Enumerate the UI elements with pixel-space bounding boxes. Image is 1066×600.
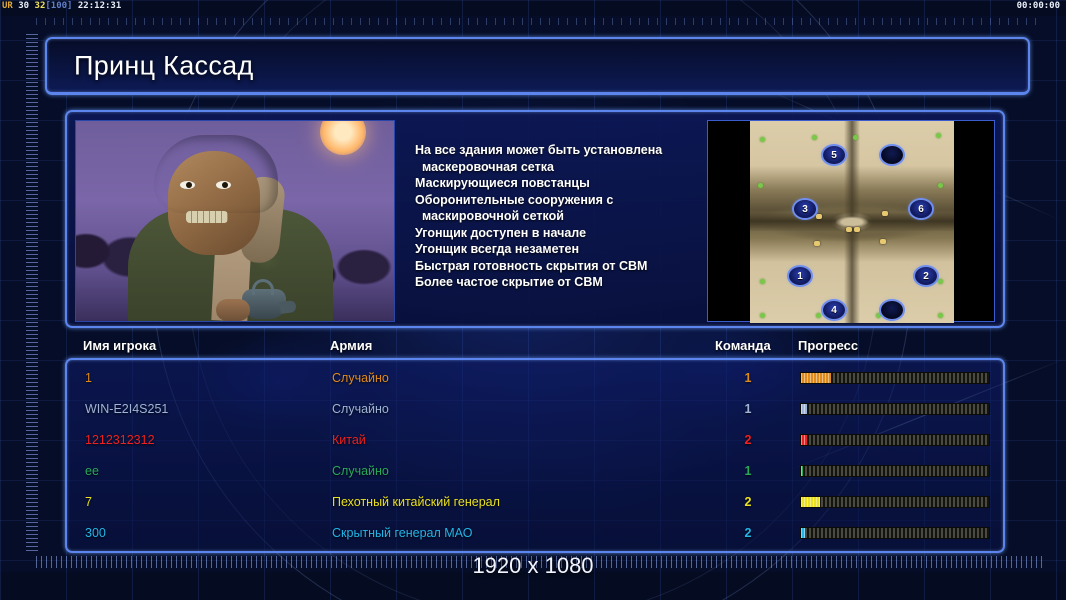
progress-fill — [801, 497, 820, 507]
description-line: Более частое скрытие от СВМ — [415, 274, 693, 291]
map-resource-marker — [760, 313, 765, 318]
debug-prefix: UR — [2, 1, 13, 11]
map-start-position[interactable] — [881, 301, 903, 319]
description-line: маскеровочная сетка — [415, 159, 693, 176]
player-rows-container: 1Случайно1WIN-E2I4S251Случайно1121231231… — [67, 366, 1003, 545]
map-start-position[interactable]: 6 — [910, 200, 932, 218]
map-start-position[interactable]: 2 — [915, 267, 937, 285]
player-name[interactable]: 1 — [85, 371, 92, 385]
map-resource-marker — [876, 313, 881, 318]
table-row[interactable]: 1212312312Китай2 — [67, 428, 1003, 452]
soldier-teeth — [186, 211, 228, 223]
soldier-turban — [154, 135, 278, 213]
player-army[interactable]: Китай — [332, 433, 366, 447]
map-oil-marker — [882, 211, 888, 216]
map-resource-marker — [760, 279, 765, 284]
debug-bracket: [100] — [45, 1, 72, 11]
map-resource-marker — [816, 313, 821, 318]
progress-fill — [801, 373, 831, 383]
player-team[interactable]: 2 — [737, 495, 759, 509]
player-team[interactable]: 2 — [737, 526, 759, 540]
player-team[interactable]: 2 — [737, 433, 759, 447]
map-resource-marker — [853, 135, 858, 140]
map-start-position[interactable]: 3 — [794, 200, 816, 218]
player-name[interactable]: ee — [85, 464, 99, 478]
player-army[interactable]: Пехотный китайский генерал — [332, 495, 500, 509]
player-army[interactable]: Случайно — [332, 402, 389, 416]
player-progress-bar — [800, 496, 990, 508]
progress-fill — [801, 404, 807, 414]
map-resource-marker — [936, 133, 941, 138]
column-header-team: Команда — [715, 338, 771, 353]
debug-clock: 22:12:31 — [78, 1, 121, 11]
page-title: Принц Кассад — [74, 50, 254, 81]
general-description: На все здания может быть установленамаск… — [403, 120, 699, 318]
player-team[interactable]: 1 — [737, 402, 759, 416]
description-line: маскировочной сеткой — [415, 208, 693, 225]
column-header-progress: Прогресс — [798, 338, 858, 353]
debug-value-2: 32 — [35, 1, 46, 11]
map-oil-marker — [814, 241, 820, 246]
player-name[interactable]: 300 — [85, 526, 106, 540]
map-start-position[interactable]: 1 — [789, 267, 811, 285]
general-info-panel: На все здания может быть установленамаск… — [65, 110, 1005, 328]
teapot-handle — [252, 279, 274, 295]
map-resource-marker — [760, 137, 765, 142]
description-line: Быстрая готовность скрытия от СВМ — [415, 258, 693, 275]
table-row[interactable]: 300Скрытный генерал МАО2 — [67, 521, 1003, 545]
title-panel: Принц Кассад — [45, 37, 1030, 95]
map-start-position[interactable]: 5 — [823, 146, 845, 164]
column-header-army: Армия — [330, 338, 372, 353]
progress-fill — [801, 435, 807, 445]
ruler-left — [26, 34, 38, 554]
player-table-panel: 1Случайно1WIN-E2I4S251Случайно1121231231… — [65, 358, 1005, 553]
description-line: Угонщик доступен в начале — [415, 225, 693, 242]
map-preview[interactable]: 536124 — [707, 120, 995, 322]
column-header-name: Имя игрока — [83, 338, 156, 353]
debug-overlay-left: UR 30 32[100] 22:12:31 — [2, 1, 121, 11]
soldier-pupil-right — [222, 182, 228, 188]
map-resource-marker — [758, 183, 763, 188]
soldier-hand — [216, 299, 250, 321]
map-oil-marker — [880, 239, 886, 244]
player-army[interactable]: Случайно — [332, 464, 389, 478]
progress-fill — [801, 466, 803, 476]
map-oil-marker — [816, 214, 822, 219]
description-line: Оборонительные сооружения с — [415, 192, 693, 209]
description-line: На все здания может быть установлена — [415, 142, 693, 159]
progress-fill — [801, 528, 805, 538]
player-name[interactable]: WIN-E2I4S251 — [85, 402, 168, 416]
player-team[interactable]: 1 — [737, 371, 759, 385]
map-oil-marker — [854, 227, 860, 232]
resolution-watermark: 1920 x 1080 — [0, 553, 1066, 579]
player-name[interactable]: 1212312312 — [85, 433, 155, 447]
map-resource-marker — [812, 135, 817, 140]
player-progress-bar — [800, 527, 990, 539]
ruler-top — [36, 18, 1042, 25]
player-progress-bar — [800, 372, 990, 384]
player-army[interactable]: Скрытный генерал МАО — [332, 526, 472, 540]
debug-overlay-right: 00:00:00 — [1017, 1, 1060, 11]
player-name[interactable]: 7 — [85, 495, 92, 509]
player-progress-bar — [800, 434, 990, 446]
player-table-header: Имя игрока Армия Команда Прогресс — [65, 338, 1005, 358]
player-army[interactable]: Случайно — [332, 371, 389, 385]
map-resource-marker — [938, 183, 943, 188]
table-row[interactable]: 7Пехотный китайский генерал2 — [67, 490, 1003, 514]
player-team[interactable]: 1 — [737, 464, 759, 478]
map-resource-marker — [938, 279, 943, 284]
map-start-position[interactable]: 4 — [823, 301, 845, 319]
description-line: Угонщик всегда незаметен — [415, 241, 693, 258]
description-line: Маскирующиеся повстанцы — [415, 175, 693, 192]
soldier-pupil-left — [186, 182, 192, 188]
map-oil-marker — [846, 227, 852, 232]
player-progress-bar — [800, 403, 990, 415]
map-resource-marker — [938, 313, 943, 318]
player-progress-bar — [800, 465, 990, 477]
table-row[interactable]: WIN-E2I4S251Случайно1 — [67, 397, 1003, 421]
general-portrait — [75, 120, 395, 322]
table-row[interactable]: eeСлучайно1 — [67, 459, 1003, 483]
table-row[interactable]: 1Случайно1 — [67, 366, 1003, 390]
sun-icon — [320, 120, 366, 155]
map-start-position[interactable] — [881, 146, 903, 164]
debug-value-1: 30 — [18, 1, 29, 11]
